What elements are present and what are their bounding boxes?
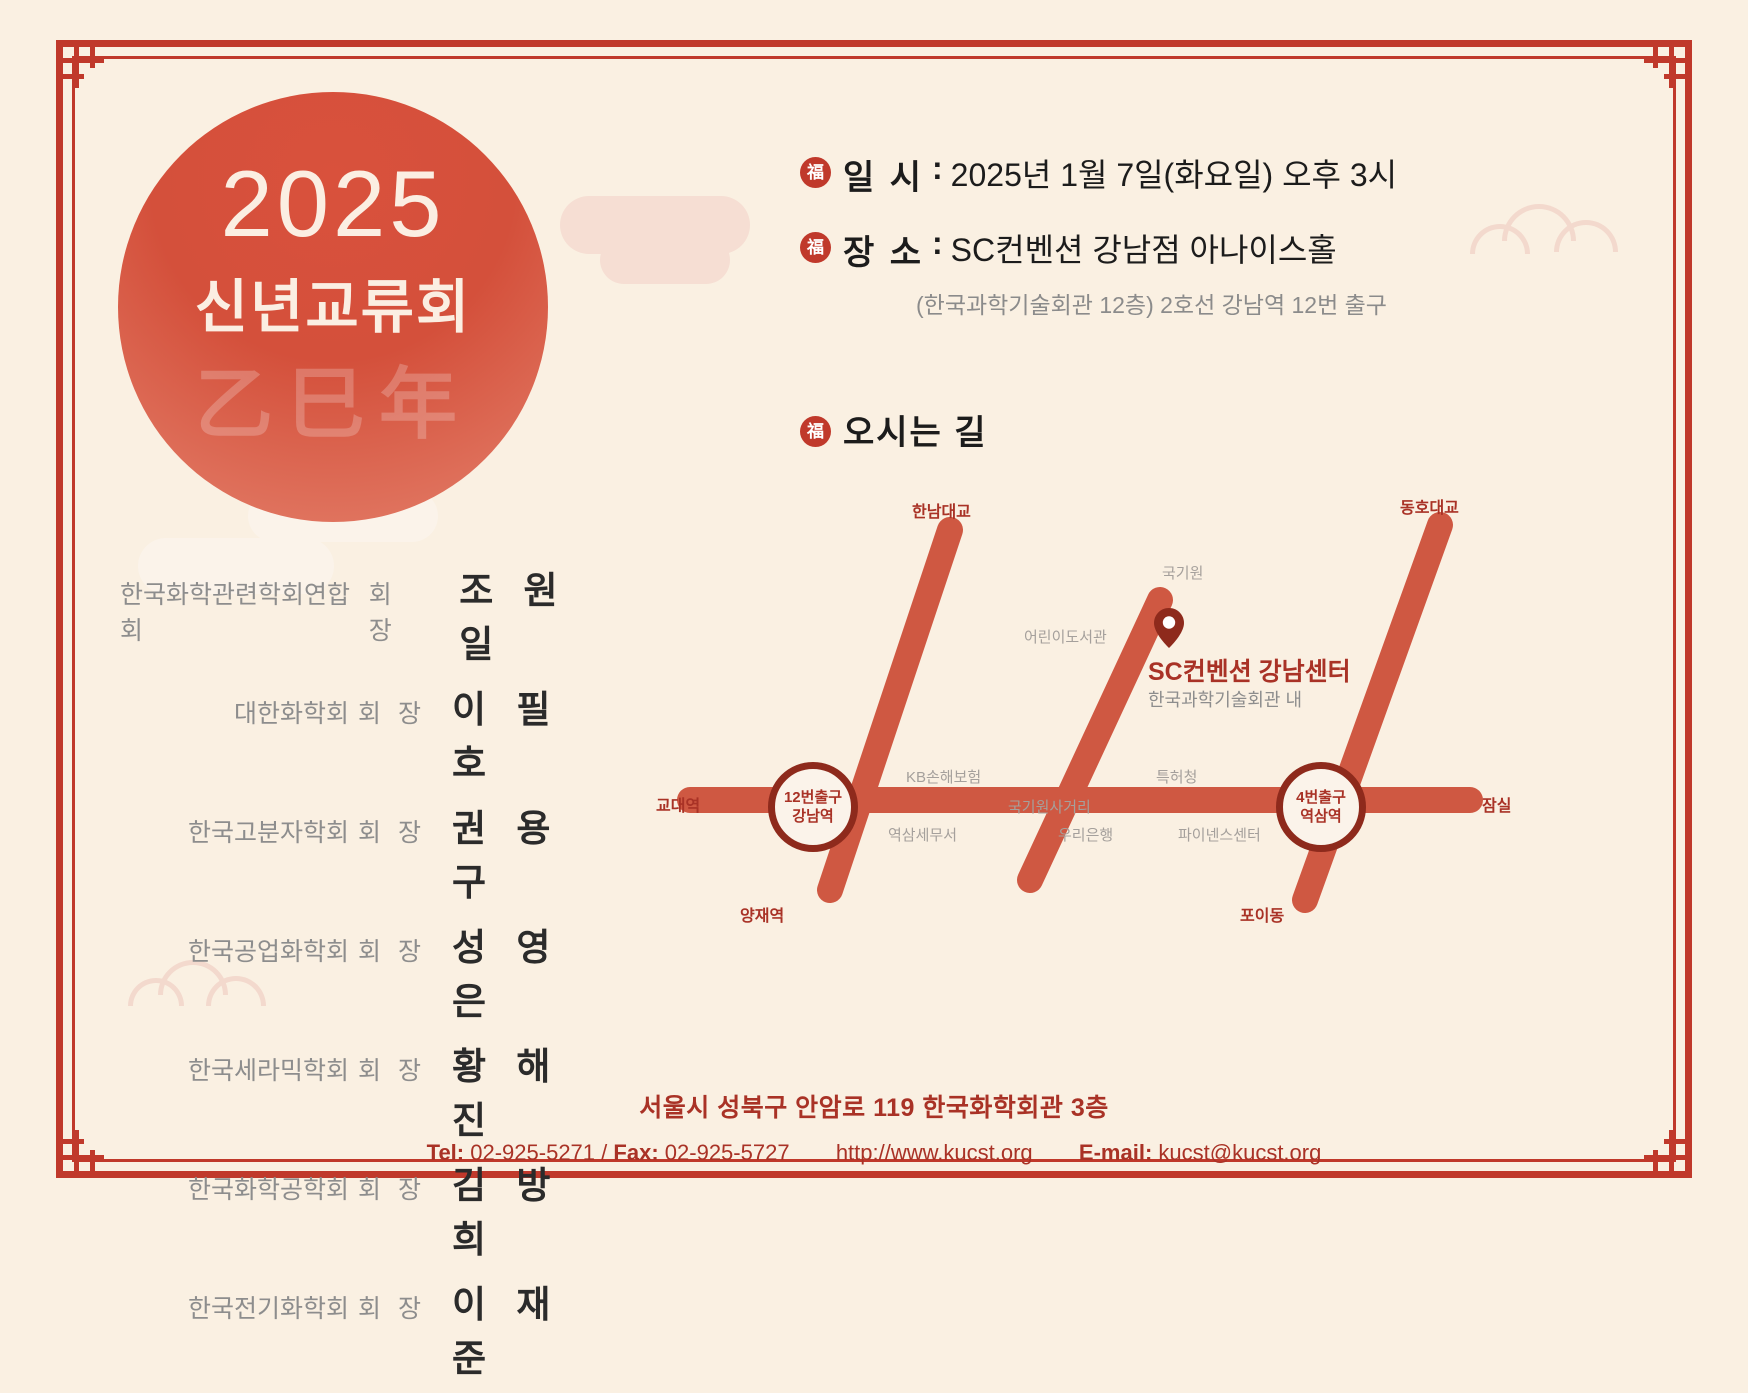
footer: 서울시 성북구 안암로 119 한국화학회관 3층 Tel: 02-925-52… bbox=[0, 1088, 1748, 1166]
corner-ornament-top-right bbox=[1618, 40, 1692, 114]
map-endpoint-hannamdaegyo: 한남대교 bbox=[912, 498, 971, 522]
event-date-colon: : bbox=[932, 150, 943, 187]
map-landmark-kukkiwon: 국기원 bbox=[1162, 562, 1203, 583]
footer-tel-value: 02-925-5271 bbox=[470, 1140, 595, 1165]
officer-row: 한국고분자학회 회 장 권 용 구 bbox=[120, 798, 590, 906]
map-endpoint-jamsil: 잠실 bbox=[1482, 792, 1511, 816]
event-venue-value: SC컨벤션 강남점 아나이스홀 bbox=[951, 225, 1337, 271]
poster-page: 2025 신년교류회 乙巳年 福 일 시 : 2025년 1월 7일(화요일) … bbox=[0, 0, 1748, 1240]
map-stop-exit: 12번출구 bbox=[784, 788, 842, 807]
map-landmark-patent-office: 특허청 bbox=[1156, 766, 1197, 787]
fu-seal-icon: 福 bbox=[800, 416, 831, 447]
event-date-value: 2025년 1월 7일(화요일) 오후 3시 bbox=[951, 150, 1397, 196]
officer-title: 회 장 bbox=[358, 694, 426, 730]
cloud-decoration bbox=[600, 236, 730, 284]
map-landmark-kb-insurance: KB손해보험 bbox=[906, 766, 981, 787]
officer-row: 한국화학관련학회연합회 회 장 조 원 일 bbox=[120, 560, 590, 668]
officer-title: 회 장 bbox=[358, 932, 426, 968]
officer-name: 이 필 호 bbox=[452, 679, 590, 787]
map-landmark-yeoksam-tax-office: 역삼세무서 bbox=[888, 824, 957, 845]
event-venue-colon: : bbox=[932, 225, 943, 262]
hero-year: 2025 bbox=[118, 150, 548, 258]
footer-address: 서울시 성북구 안암로 119 한국화학회관 3층 bbox=[0, 1088, 1748, 1124]
event-date-label: 일 시 bbox=[843, 150, 924, 199]
officer-org: 한국전기화학회 bbox=[188, 1289, 349, 1325]
officer-org: 한국화학공학회 bbox=[188, 1170, 349, 1206]
hero-hanja-year: 乙巳年 bbox=[118, 342, 548, 454]
officer-org: 한국화학관련학회연합회 bbox=[120, 575, 360, 647]
map-landmark-kukkiwon-crossroad: 국기원사거리 bbox=[1008, 796, 1091, 817]
fu-seal-icon: 福 bbox=[800, 232, 831, 263]
directions-label: 오시는 길 bbox=[843, 405, 988, 454]
directions-heading: 福 오시는 길 bbox=[800, 405, 988, 454]
officer-title: 회 장 bbox=[358, 1170, 426, 1206]
fu-seal-icon: 福 bbox=[800, 157, 831, 188]
footer-website-link[interactable]: http://www.kucst.org bbox=[836, 1140, 1033, 1165]
location-map: 한남대교 동호대교 교대역 잠실 양재역 포이동 국기원 어린이도서관 KB손해… bbox=[640, 470, 1520, 950]
corner-ornament-top-left bbox=[56, 40, 130, 114]
officer-row: 한국화학공학회 회 장 김 방 희 bbox=[120, 1155, 590, 1263]
map-endpoint-donghodaegyo: 동호대교 bbox=[1400, 494, 1459, 518]
officer-title: 회 장 bbox=[369, 575, 433, 647]
officer-org: 한국고분자학회 bbox=[188, 813, 349, 849]
officer-org: 한국공업화학회 bbox=[188, 932, 349, 968]
officer-name: 김 방 희 bbox=[452, 1155, 590, 1263]
map-landmark-finance-center: 파이넨스센터 bbox=[1178, 824, 1261, 845]
officer-name: 조 원 일 bbox=[459, 560, 590, 668]
officer-name: 이 재 준 bbox=[452, 1274, 590, 1382]
officer-title: 회 장 bbox=[358, 1051, 426, 1087]
map-roads bbox=[640, 470, 1520, 950]
event-venue-note: (한국과학기술회관 12층) 2호선 강남역 12번 출구 bbox=[916, 286, 1500, 320]
officer-name: 권 용 구 bbox=[452, 798, 590, 906]
map-endpoint-gyodae: 교대역 bbox=[656, 792, 700, 816]
footer-email-value[interactable]: kucst@kucst.org bbox=[1158, 1140, 1321, 1165]
officer-org: 대한화학회 bbox=[234, 694, 349, 730]
footer-fax-value: 02-925-5727 bbox=[665, 1140, 790, 1165]
event-date-row: 福 일 시 : 2025년 1월 7일(화요일) 오후 3시 bbox=[800, 150, 1500, 199]
officer-title: 회 장 bbox=[358, 813, 426, 849]
hero-circle: 2025 신년교류회 乙巳年 bbox=[118, 92, 548, 522]
event-venue-label: 장 소 bbox=[843, 225, 924, 274]
map-stop-station: 역삼역 bbox=[1300, 807, 1341, 826]
map-stop-station: 강남역 bbox=[792, 807, 833, 826]
officer-name: 성 영 은 bbox=[452, 917, 590, 1025]
map-stop-gangnam[interactable]: 12번출구 강남역 bbox=[768, 762, 858, 852]
footer-separator: / bbox=[601, 1140, 607, 1165]
map-landmark-woori-bank: 우리은행 bbox=[1058, 824, 1113, 845]
officer-row: 한국공업화학회 회 장 성 영 은 bbox=[120, 917, 590, 1025]
officer-row: 한국전기화학회 회 장 이 재 준 bbox=[120, 1274, 590, 1382]
map-stop-yeoksam[interactable]: 4번출구 역삼역 bbox=[1276, 762, 1366, 852]
hero-title: 신년교류회 bbox=[118, 260, 548, 344]
event-info-block: 福 일 시 : 2025년 1월 7일(화요일) 오후 3시 福 장 소 : S… bbox=[800, 150, 1500, 348]
footer-email-label: E-mail: bbox=[1079, 1140, 1152, 1165]
officer-org: 한국세라믹학회 bbox=[188, 1051, 349, 1087]
map-poi-subtitle: 한국과학기술회관 내 bbox=[1148, 686, 1302, 712]
event-venue-row: 福 장 소 : SC컨벤션 강남점 아나이스홀 bbox=[800, 225, 1500, 274]
map-poi-title: SC컨벤션 강남센터 bbox=[1148, 652, 1351, 688]
footer-tel-label: Tel: bbox=[427, 1140, 464, 1165]
map-landmark-childrens-library: 어린이도서관 bbox=[1024, 626, 1107, 647]
map-endpoint-yangjae: 양재역 bbox=[740, 902, 784, 926]
officers-list: 한국화학관련학회연합회 회 장 조 원 일 대한화학회 회 장 이 필 호 한국… bbox=[120, 560, 590, 1393]
officer-row: 대한화학회 회 장 이 필 호 bbox=[120, 679, 590, 787]
map-pin-icon bbox=[1152, 606, 1186, 650]
footer-fax-label: Fax: bbox=[613, 1140, 658, 1165]
map-stop-exit: 4번출구 bbox=[1296, 788, 1346, 807]
footer-contact-line: Tel: 02-925-5271 / Fax: 02-925-5727 http… bbox=[0, 1140, 1748, 1166]
officer-title: 회 장 bbox=[358, 1289, 426, 1325]
map-endpoint-poidong: 포이동 bbox=[1240, 902, 1284, 926]
